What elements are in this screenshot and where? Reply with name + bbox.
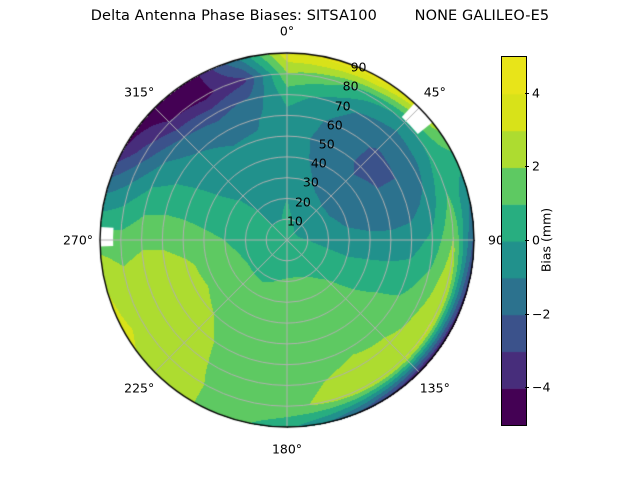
- colorbar-gradient: [501, 56, 527, 426]
- polar-radial-tick-70: 70: [335, 98, 351, 113]
- polar-angular-tick-135: 135°: [420, 380, 450, 395]
- colorbar-tick-mark: [525, 93, 529, 94]
- polar-angular-tick-225: 225°: [124, 380, 154, 395]
- polar-angular-tick-315: 315°: [124, 85, 154, 100]
- polar-angular-tick-180: 180°: [272, 442, 302, 457]
- polar-radial-tick-50: 50: [319, 137, 335, 152]
- polar-radial-tick-60: 60: [327, 117, 343, 132]
- colorbar-tick-mark: [525, 387, 529, 388]
- polar-radial-tick-90: 90: [351, 60, 367, 75]
- colorbar-tick-mark: [525, 240, 529, 241]
- figure-canvas: Delta Antenna Phase Biases: SITSA100 NON…: [0, 0, 640, 480]
- colorbar-tick-mark: [525, 314, 529, 315]
- colorbar-tick-label: 4: [532, 85, 540, 100]
- polar-radial-tick-40: 40: [311, 156, 327, 171]
- polar-radial-tick-20: 20: [295, 194, 311, 209]
- colorbar: 420−2−4: [501, 56, 525, 424]
- colorbar-tick-label: 2: [532, 159, 540, 174]
- colorbar-tick-label: −2: [532, 306, 550, 321]
- polar-angular-tick-0: 0°: [280, 24, 294, 39]
- polar-angular-tick-270: 270°: [63, 233, 93, 248]
- polar-angular-tick-45: 45°: [424, 85, 446, 100]
- colorbar-axis-label: Bias (mm): [539, 208, 554, 272]
- colorbar-tick-mark: [525, 166, 529, 167]
- colorbar-tick-label: −4: [532, 380, 550, 395]
- polar-radial-tick-30: 30: [303, 175, 319, 190]
- polar-radial-tick-10: 10: [287, 213, 303, 228]
- polar-radial-tick-80: 80: [343, 79, 359, 94]
